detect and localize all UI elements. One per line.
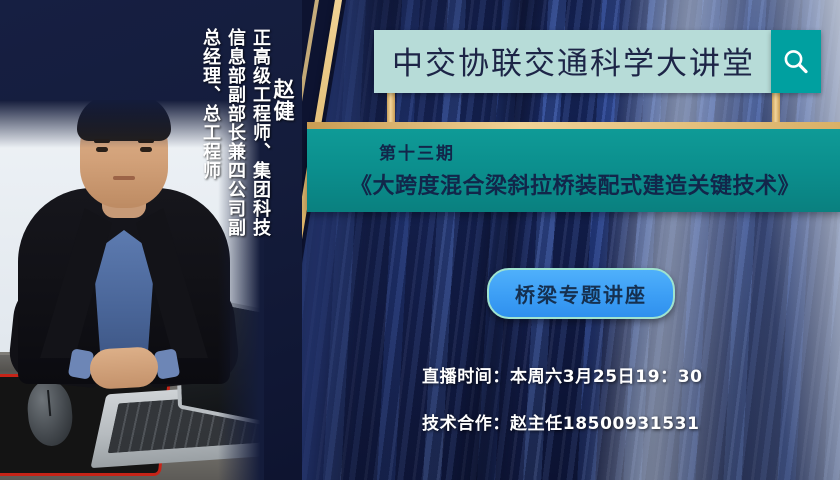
photo-fade-right bbox=[218, 100, 264, 480]
livestream-poster: 赵健 正高级工程师、集团科技 信息部副部长兼四公司副 总经理、总工程师 中交协联… bbox=[0, 0, 840, 480]
topic-badge[interactable]: 桥梁专题讲座 bbox=[487, 268, 675, 319]
brand-header: 中交协联交通科学大讲堂 bbox=[374, 30, 821, 93]
board-gold-edge bbox=[307, 122, 840, 129]
search-icon bbox=[781, 47, 811, 77]
speaker-panel: 赵健 正高级工程师、集团科技 信息部副部长兼四公司副 总经理、总工程师 bbox=[0, 0, 302, 480]
brand-title: 中交协联交通科学大讲堂 bbox=[374, 30, 771, 93]
broadcast-time: 直播时间：本周六3月25日19：30 bbox=[422, 362, 703, 387]
search-button[interactable] bbox=[771, 30, 821, 93]
speaker-photo bbox=[0, 100, 264, 480]
speaker-name: 赵健 bbox=[272, 78, 293, 122]
lecture-title: 《大跨度混合梁斜拉桥装配式建造关键技术》 bbox=[307, 168, 840, 200]
lecture-board: 第十三期 《大跨度混合梁斜拉桥装配式建造关键技术》 bbox=[307, 128, 840, 212]
mouth bbox=[113, 176, 135, 180]
issue-number: 第十三期 bbox=[379, 139, 840, 164]
content-panel: 中交协联交通科学大讲堂 第十三期 《大跨度混合梁斜拉桥装配式建造关键技术》 桥梁… bbox=[302, 0, 840, 480]
technical-cooperation: 技术合作：赵主任18500931531 bbox=[422, 409, 703, 434]
clasped-hands bbox=[89, 346, 159, 390]
event-info: 直播时间：本周六3月25日19：30 技术合作：赵主任18500931531 bbox=[422, 362, 703, 456]
